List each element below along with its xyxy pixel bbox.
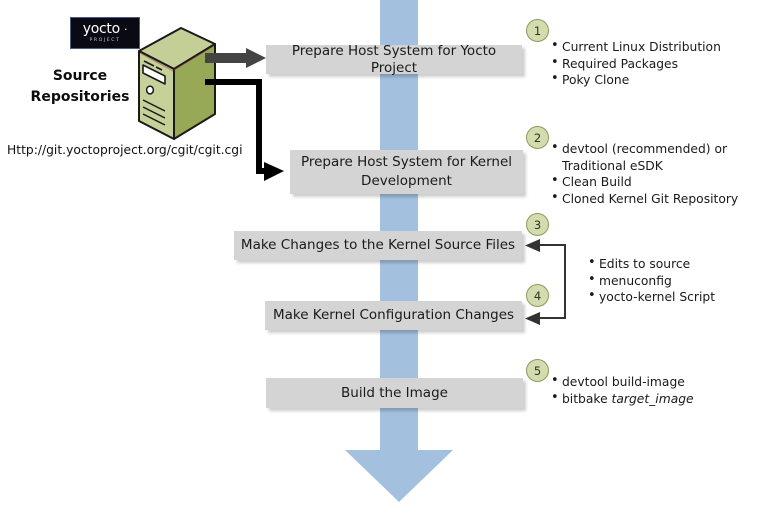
process-box-step5[interactable]: Build the Image (266, 378, 523, 408)
step2-note-item: Clean Build (562, 174, 738, 191)
step-badge-4: 4 (526, 284, 549, 307)
main-flow-arrow-head (345, 450, 453, 502)
step-badge-3: 3 (526, 213, 549, 236)
step1-note-item: Required Packages (562, 56, 721, 73)
process-box-step2-label-line1: Prepare Host System for Kernel (301, 153, 512, 172)
step-badge-1-number: 1 (534, 24, 541, 38)
step5-note-cmd-prefix: bitbake (562, 392, 612, 406)
step-badge-3-number: 3 (534, 218, 541, 232)
process-box-step2-label-line2: Development (361, 172, 452, 191)
connector-server-to-step2-arrowhead (264, 161, 288, 183)
connector-notes-bracket-to-step3 (538, 244, 565, 246)
step1-note-item: Poky Clone (562, 72, 721, 89)
source-repositories-label: Source Repositories (20, 66, 140, 108)
process-box-step4-label: Make Kernel Configuration Changes (273, 307, 514, 324)
step5-note-item: bitbake target_image (562, 391, 694, 408)
connector-notes-bracket-to-step4 (538, 317, 565, 319)
process-box-step1-label: Prepare Host System for Yocto Project (272, 43, 516, 77)
step2-note-item: Cloned Kernel Git Repository (562, 191, 738, 208)
diagram-canvas: yocto · PROJECT Source Repositories Http… (0, 0, 769, 517)
step-badge-1: 1 (526, 19, 549, 42)
process-box-step1[interactable]: Prepare Host System for Yocto Project (266, 45, 522, 74)
step34-note-item: Edits to source (599, 256, 715, 273)
connector-to-step4-arrowhead (525, 311, 541, 326)
server-tower-icon (134, 26, 220, 150)
step2-note-item: devtool (recommended) or Traditional eSD… (562, 141, 738, 174)
process-box-step3-label: Make Changes to the Kernel Source Files (241, 237, 515, 254)
connector-server-to-step2-v (256, 79, 262, 171)
step2-note-line2: Traditional eSDK (562, 158, 738, 175)
connector-notes-bracket-vertical (564, 244, 566, 319)
step1-notes: Current Linux Distribution Required Pack… (548, 39, 721, 89)
step1-note-item: Current Linux Distribution (562, 39, 721, 56)
source-repositories-label-line2: Repositories (20, 87, 140, 108)
step-badge-2: 2 (526, 126, 549, 149)
step5-note-cmd-italic: target_image (612, 392, 694, 406)
step-badge-4-number: 4 (534, 289, 541, 303)
yocto-project-logo: yocto · PROJECT (70, 17, 140, 49)
step5-notes: devtool build-image bitbake target_image (548, 374, 694, 407)
process-box-step3[interactable]: Make Changes to the Kernel Source Files (234, 231, 522, 260)
step34-note-item: yocto-kernel Script (599, 289, 715, 306)
connector-to-step3-arrowhead (525, 238, 541, 253)
process-box-step4[interactable]: Make Kernel Configuration Changes (265, 301, 522, 330)
step2-note-line1: devtool (recommended) or (562, 142, 727, 156)
yocto-logo-wordmark: yocto · (83, 22, 127, 37)
step2-notes: devtool (recommended) or Traditional eSD… (548, 141, 738, 207)
step34-note-item: menuconfig (599, 273, 715, 290)
process-box-step5-label: Build the Image (341, 385, 448, 402)
connector-server-to-step2-h1 (205, 79, 262, 85)
step-badge-5-number: 5 (534, 364, 541, 378)
step34-notes: Edits to source menuconfig yocto-kernel … (585, 256, 715, 306)
step-badge-5: 5 (526, 359, 549, 382)
yocto-logo-subtitle: PROJECT (89, 37, 120, 44)
connector-server-to-step1-line (205, 53, 250, 63)
process-box-step2[interactable]: Prepare Host System for Kernel Developme… (290, 150, 523, 194)
step-badge-2-number: 2 (534, 131, 541, 145)
source-repositories-label-line1: Source (20, 66, 140, 87)
step5-note-item: devtool build-image (562, 374, 694, 391)
